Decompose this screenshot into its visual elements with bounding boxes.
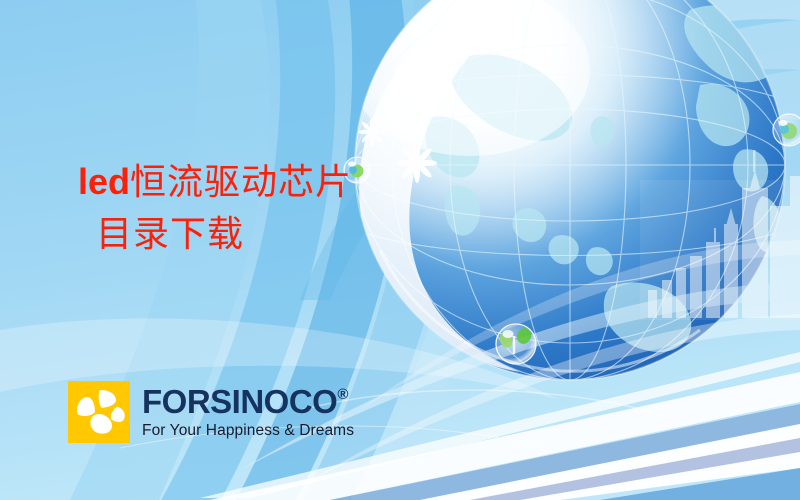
daisy-flower-small (358, 118, 386, 146)
headline-cjk: 恒流驱动芯片 (130, 162, 352, 203)
logo-wordmark: FORSINOCO ® (142, 385, 354, 418)
brand-logo: FORSINOCO ® For Your Happiness & Dreams (68, 381, 354, 443)
headline-latin: led (78, 161, 130, 202)
promo-banner: led恒流驱动芯片 目录下载 FORSINOCO ® For Your Happ… (0, 0, 800, 500)
bubble-globe-topright (773, 114, 800, 146)
bubble-sprout (496, 324, 536, 364)
headline-line-2: 目录下载 (96, 213, 352, 257)
pinwheel-flower-mark (68, 381, 130, 443)
logo-text-block: FORSINOCO ® For Your Happiness & Dreams (142, 385, 354, 439)
headline-line-1: led恒流驱动芯片 (78, 160, 352, 205)
page-title: led恒流驱动芯片 目录下载 (78, 160, 352, 257)
registered-trademark-icon: ® (337, 387, 348, 402)
logo-tagline: For Your Happiness & Dreams (142, 423, 354, 439)
logo-wordmark-text: FORSINOCO (142, 385, 337, 418)
daisy-flower-large (397, 143, 437, 183)
